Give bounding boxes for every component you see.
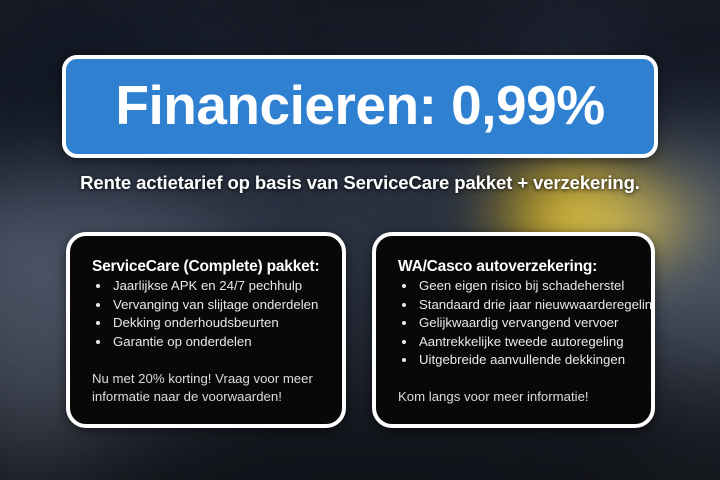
insurance-bullet-list: Geen eigen risico bij schadeherstel Stan…: [392, 277, 635, 370]
headline-banner: Financieren: 0,99%: [62, 55, 658, 158]
servicecare-bullet-list: Jaarlijkse APK en 24/7 pechhulp Vervangi…: [86, 277, 326, 351]
bullet-dot-icon: [402, 303, 406, 307]
list-item: Vervanging van slijtage onderdelen: [86, 296, 326, 315]
list-item: Gelijkwaardig vervangend vervoer: [392, 314, 635, 333]
list-item: Dekking onderhoudsbeurten: [86, 314, 326, 333]
list-item: Garantie op onderdelen: [86, 333, 326, 352]
list-item: Standaard drie jaar nieuwwaarderegeling: [392, 296, 635, 315]
headline-text: Financieren: 0,99%: [115, 78, 604, 136]
list-item-label: Geen eigen risico bij schadeherstel: [419, 278, 624, 293]
list-item-label: Aantrekkelijke tweede autoregeling: [419, 334, 624, 349]
insurance-card: WA/Casco autoverzekering: Geen eigen ris…: [372, 232, 655, 428]
servicecare-card: ServiceCare (Complete) pakket: Jaarlijks…: [66, 232, 346, 428]
bullet-dot-icon: [96, 284, 100, 288]
bullet-dot-icon: [402, 358, 406, 362]
bullet-dot-icon: [96, 321, 100, 325]
list-item: Uitgebreide aanvullende dekkingen: [392, 351, 635, 370]
list-item: Jaarlijkse APK en 24/7 pechhulp: [86, 277, 326, 296]
list-item-label: Vervanging van slijtage onderdelen: [113, 297, 318, 312]
list-item-label: Gelijkwaardig vervangend vervoer: [419, 315, 618, 330]
list-item: Geen eigen risico bij schadeherstel: [392, 277, 635, 296]
servicecare-card-footer: Nu met 20% korting! Vraag voor meer info…: [92, 370, 326, 406]
subtitle-text: Rente actietarief op basis van ServiceCa…: [0, 172, 720, 194]
bullet-dot-icon: [96, 303, 100, 307]
bullet-dot-icon: [402, 284, 406, 288]
bullet-dot-icon: [96, 340, 100, 344]
list-item-label: Dekking onderhoudsbeurten: [113, 315, 279, 330]
bullet-dot-icon: [402, 340, 406, 344]
insurance-card-footer: Kom langs voor meer informatie!: [398, 388, 634, 406]
servicecare-card-title: ServiceCare (Complete) pakket:: [92, 258, 326, 276]
list-item: Aantrekkelijke tweede autoregeling: [392, 333, 635, 352]
list-item-label: Jaarlijkse APK en 24/7 pechhulp: [113, 278, 302, 293]
list-item-label: Uitgebreide aanvullende dekkingen: [419, 352, 625, 367]
bullet-dot-icon: [402, 321, 406, 325]
list-item-label: Standaard drie jaar nieuwwaarderegeling: [419, 297, 655, 312]
list-item-label: Garantie op onderdelen: [113, 334, 252, 349]
promo-slide: Financieren: 0,99% Rente actietarief op …: [0, 0, 720, 480]
insurance-card-title: WA/Casco autoverzekering:: [398, 258, 635, 276]
